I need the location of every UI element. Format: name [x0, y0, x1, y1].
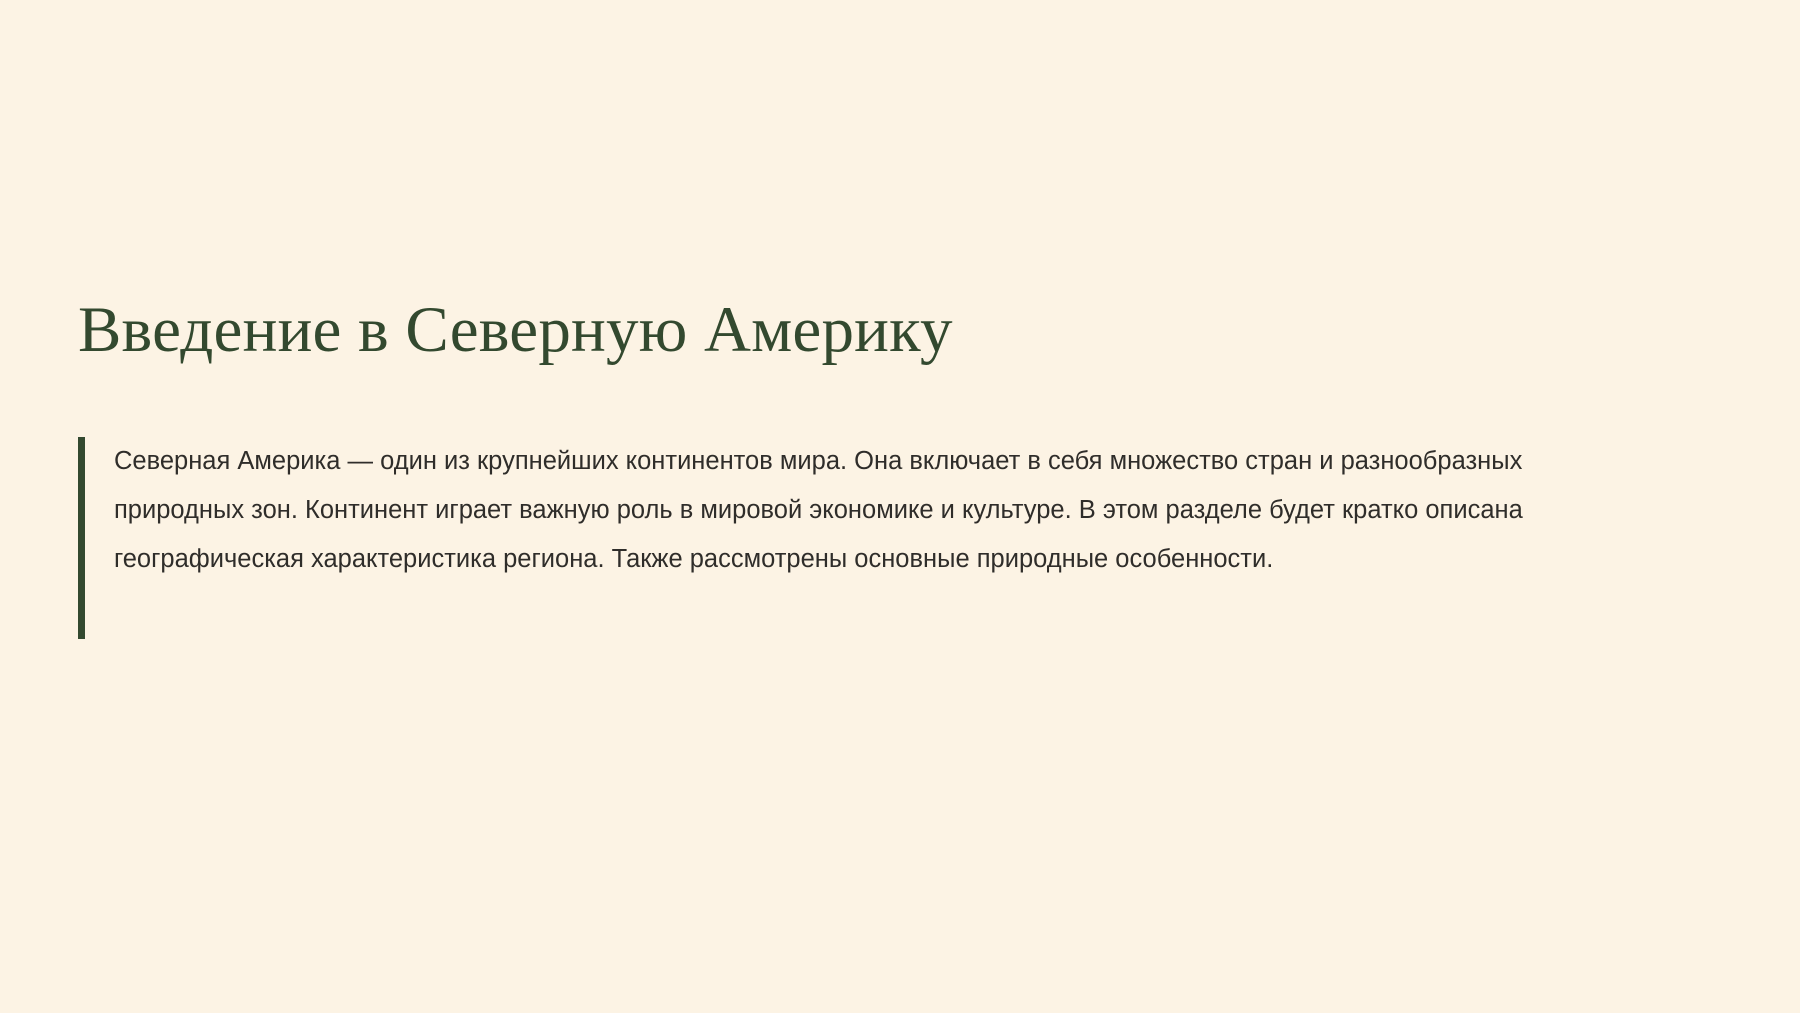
highlighted-paragraph-block: Северная Америка — один из крупнейших ко…: [78, 437, 1698, 584]
intro-section: Введение в Северную Америку Северная Аме…: [78, 296, 1698, 584]
page-title: Введение в Северную Америку: [78, 296, 1698, 365]
document-page: Введение в Северную Америку Северная Аме…: [0, 0, 1800, 1013]
intro-paragraph: Северная Америка — один из крупнейших ко…: [114, 437, 1626, 584]
accent-bar: [78, 437, 85, 639]
